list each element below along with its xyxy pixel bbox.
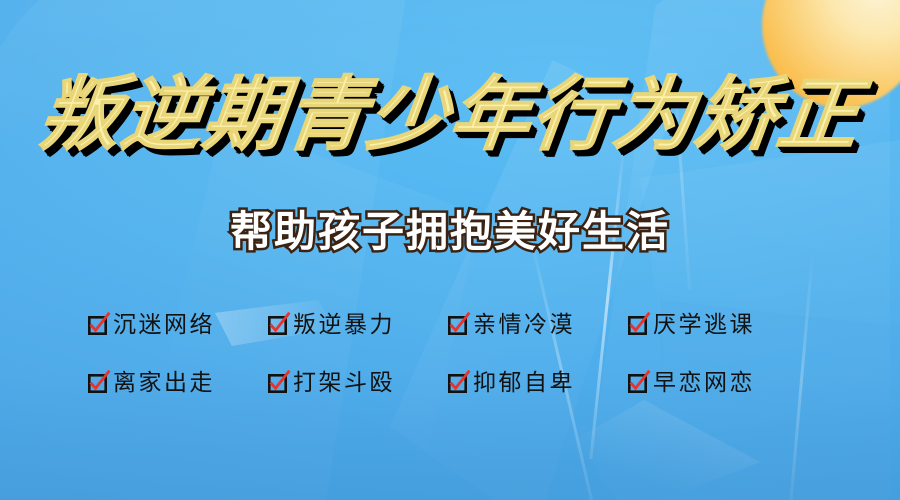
checkbox-checked-icon	[268, 374, 287, 393]
promo-banner: 叛逆期青少年行为矫正 帮助孩子拥抱美好生活 沉迷网络	[0, 0, 900, 500]
checklist-row: 离家出走 打架斗殴 抑郁自卑	[88, 354, 828, 412]
checkbox-checked-icon	[628, 316, 647, 335]
checklist-item[interactable]: 打架斗殴	[268, 372, 448, 395]
checklist-item-label: 离家出走	[113, 372, 215, 395]
checklist-item-label: 早恋网恋	[653, 372, 755, 395]
checklist-item[interactable]: 抑郁自卑	[448, 372, 628, 395]
checkbox-checked-icon	[88, 374, 107, 393]
background-vignette	[0, 0, 900, 500]
checklist-item[interactable]: 叛逆暴力	[268, 314, 448, 337]
checklist-item-label: 亲情冷漠	[473, 314, 575, 337]
checklist-item[interactable]: 早恋网恋	[628, 372, 808, 395]
checkbox-checked-icon	[88, 316, 107, 335]
checklist-item-label: 打架斗殴	[293, 372, 395, 395]
checklist-item-label: 沉迷网络	[113, 314, 215, 337]
checklist-item-label: 叛逆暴力	[293, 314, 395, 337]
checklist-item-label: 厌学逃课	[653, 314, 755, 337]
checklist: 沉迷网络 叛逆暴力 亲情冷漠	[88, 296, 828, 412]
checklist-row: 沉迷网络 叛逆暴力 亲情冷漠	[88, 296, 828, 354]
checklist-item[interactable]: 亲情冷漠	[448, 314, 628, 337]
checklist-item[interactable]: 离家出走	[88, 372, 268, 395]
checkbox-checked-icon	[268, 316, 287, 335]
checkbox-checked-icon	[448, 374, 467, 393]
checklist-item[interactable]: 沉迷网络	[88, 314, 268, 337]
checklist-item[interactable]: 厌学逃课	[628, 314, 808, 337]
checklist-item-label: 抑郁自卑	[473, 372, 575, 395]
checkbox-checked-icon	[448, 316, 467, 335]
checkbox-checked-icon	[628, 374, 647, 393]
